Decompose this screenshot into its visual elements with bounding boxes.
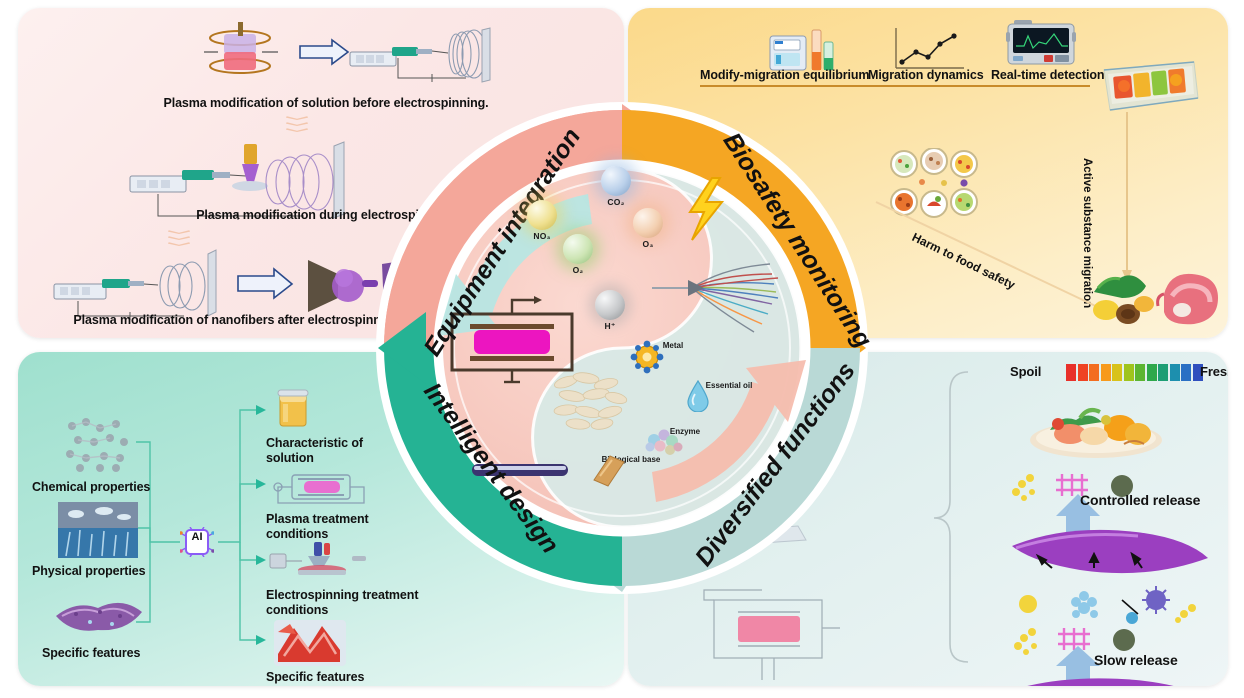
monitor-icon (1006, 18, 1078, 74)
analyzer-icon (768, 26, 840, 74)
species-co2: CO₂ (596, 166, 636, 207)
fiber-surface-icon (58, 502, 138, 558)
agent-enzyme: Enzyme (642, 426, 728, 437)
freshness-swatch (1112, 364, 1122, 381)
freshness-swatch (1089, 364, 1099, 381)
bl-input-label-1: Chemical properties (32, 480, 150, 494)
species-o3: O₃ (628, 208, 668, 249)
red-meat-icon (274, 620, 346, 666)
ai-node-label: AI (180, 531, 214, 543)
controlled-release-label: Controlled release (1080, 492, 1200, 508)
species-o2: O₂ (558, 234, 598, 275)
harm-to-food-safety-arrow (872, 198, 1120, 320)
line-chart-icon (890, 24, 968, 74)
beaker-icon (274, 388, 314, 432)
species-h: H⁺ (590, 290, 630, 332)
freshness-swatch (1078, 364, 1088, 381)
freshness-swatch (1147, 364, 1157, 381)
controlled-release-icon (1006, 470, 1216, 580)
bl-input-label-2: Physical properties (32, 564, 145, 578)
central-cycle-diagram: Equipment integration Biosafety monitori… (352, 78, 892, 618)
bl-output-label-4: Specific features (266, 670, 364, 684)
fresh-vegetables-icon (1084, 270, 1160, 332)
molecular-cluster-icon (60, 414, 136, 472)
freshness-swatch (1181, 364, 1191, 381)
fresh-label: Fresh (1200, 364, 1228, 379)
freshness-swatch (1101, 364, 1111, 381)
freshness-swatch (1170, 364, 1180, 381)
agent-metal: Metal (630, 340, 716, 351)
agent-essential-oil: Essential oil (686, 380, 772, 391)
graphical-abstract: Plasma modification of solution before e… (0, 0, 1244, 698)
chevron-down-icon (286, 116, 308, 134)
membrane-sheet-icon (52, 592, 144, 636)
packaged-produce-tray-icon (1094, 42, 1204, 118)
biosafety-header-3: Real-time detection (991, 68, 1104, 82)
freshness-swatch (1066, 364, 1076, 381)
bl-input-label-3: Specific features (42, 646, 140, 660)
freshness-swatch (1135, 364, 1145, 381)
fresh-food-platter-icon (1028, 388, 1164, 460)
ai-node[interactable]: AI (180, 527, 214, 557)
active-substance-migration-arrow (1120, 112, 1134, 282)
slow-release-label: Slow release (1094, 652, 1178, 668)
freshness-swatch (1124, 364, 1134, 381)
species-no3: NO₃ (522, 200, 562, 241)
spoil-label: Spoil (1010, 364, 1041, 379)
freshness-swatch-strip (1066, 364, 1203, 381)
cellulose-flakes-icon (552, 370, 636, 430)
raw-meat-icon (1152, 266, 1224, 332)
freshness-swatch (1158, 364, 1168, 381)
agent-biological-base: Biological base (588, 454, 674, 464)
grouping-bracket (912, 368, 972, 668)
